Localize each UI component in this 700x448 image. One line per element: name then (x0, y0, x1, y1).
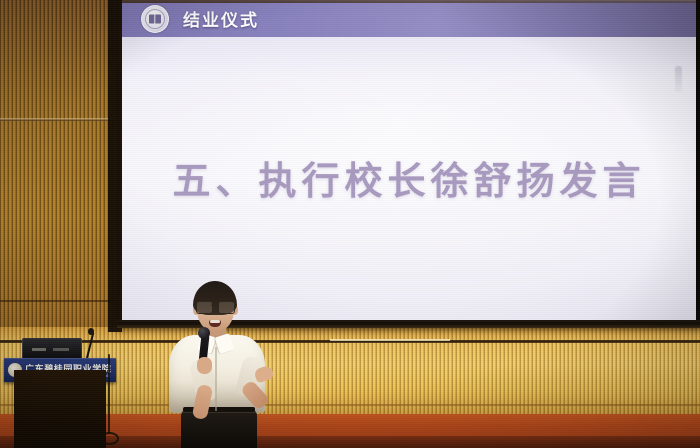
podium: 广东碧桂园职业学院 Guangdong Country Garden Polyt… (4, 336, 116, 448)
speaker-eyebrow-right (220, 298, 232, 300)
podium-cable (108, 354, 110, 434)
speaker-eyebrow-left (199, 298, 211, 300)
gooseneck-microphone-head (88, 328, 94, 335)
screen-left-shadow (108, 0, 122, 332)
screen-vignette (122, 0, 696, 322)
laptop-keyboard-row-2 (53, 348, 69, 351)
eyeglasses-icon (196, 301, 235, 312)
gooseneck-microphone-stem (86, 333, 94, 359)
wall-rail-highlight (330, 339, 450, 341)
photo-scene: 结业仪式 五、执行校长徐舒扬发言 广东碧桂园职业学院 Guangdong Cou… (0, 0, 700, 448)
eyeglass-lens-left (196, 301, 213, 314)
laptop-keyboard-row (32, 348, 46, 351)
eyeglass-lens-right (218, 301, 235, 314)
speaker-left-hand (197, 357, 212, 374)
wall-seam-lower (0, 300, 122, 302)
speaker-figure (155, 281, 285, 448)
podium-body (14, 370, 106, 448)
speaker-shirt-placket (215, 347, 217, 411)
handheld-microphone-head (198, 327, 210, 339)
speaker-mouth (209, 320, 221, 327)
podium-cable-coil (100, 432, 119, 445)
wall-seam-upper (0, 118, 122, 121)
projection-screen: 结业仪式 五、执行校长徐舒扬发言 (122, 0, 696, 322)
